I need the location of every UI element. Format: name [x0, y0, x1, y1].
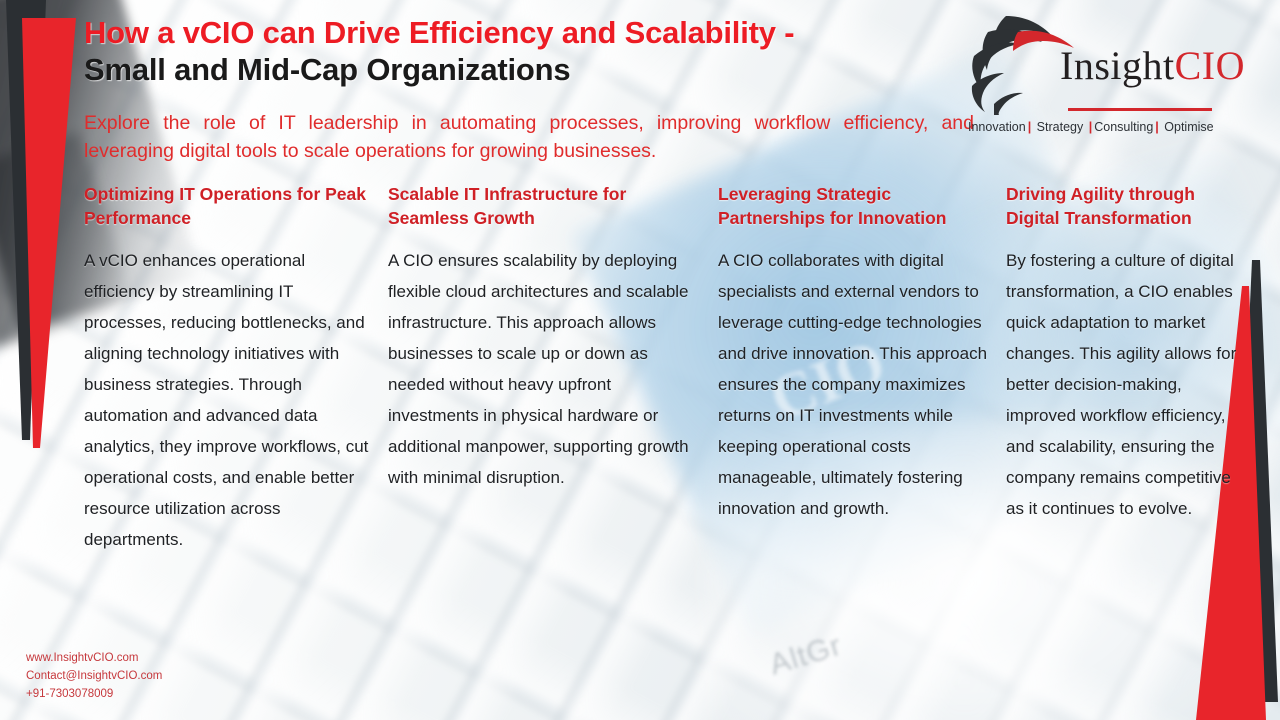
column-body: A CIO collaborates with digital speciali… — [718, 246, 990, 524]
slide-canvas: CIO AltGr How a vCIO can Drive Efficienc… — [0, 0, 1280, 720]
logo-tagline-separator: | — [1153, 120, 1161, 134]
logo-tagline-item-consulting: Consulting — [1094, 120, 1153, 134]
logo-wordmark: InsightCIO — [1060, 42, 1245, 89]
page-subtitle: Explore the role of IT leadership in aut… — [84, 110, 974, 165]
content-column: Leveraging Strategic Partnerships for In… — [718, 182, 990, 525]
logo-tagline: Innovation| Strategy |Consulting| Optimi… — [968, 120, 1258, 134]
column-body: A CIO ensures scalability by deploying f… — [388, 246, 700, 494]
logo-tagline-separator: | — [1026, 120, 1034, 134]
logo-wordmark-insight: Insight — [1060, 43, 1175, 88]
content-column: Optimizing IT Operations for Peak Perfor… — [84, 182, 369, 556]
column-heading: Driving Agility through Digital Transfor… — [1006, 182, 1246, 230]
column-body: By fostering a culture of digital transf… — [1006, 246, 1246, 524]
footer-website[interactable]: www.InsightvCIO.com — [26, 650, 346, 668]
column-heading: Leveraging Strategic Partnerships for In… — [718, 182, 990, 230]
page-title-line-1: How a vCIO can Drive Efficiency and Scal… — [84, 16, 964, 51]
page-title: How a vCIO can Drive Efficiency and Scal… — [84, 16, 964, 88]
footer-contact: www.InsightvCIO.com Contact@InsightvCIO.… — [26, 650, 346, 703]
footer-phone[interactable]: +91-7303078009 — [26, 686, 346, 704]
column-heading: Scalable IT Infrastructure for Seamless … — [388, 182, 700, 230]
column-body: A vCIO enhances operational efficiency b… — [84, 246, 369, 555]
logo-wordmark-cio: CIO — [1175, 43, 1245, 88]
footer-email[interactable]: Contact@InsightvCIO.com — [26, 668, 346, 686]
content-column: Scalable IT Infrastructure for Seamless … — [388, 182, 700, 494]
content-columns: Optimizing IT Operations for Peak Perfor… — [0, 182, 1280, 672]
column-heading: Optimizing IT Operations for Peak Perfor… — [84, 182, 369, 230]
logo-underline — [1068, 108, 1212, 111]
logo-tagline-item-innovation: Innovation — [968, 120, 1026, 134]
page-title-line-2: Small and Mid-Cap Organizations — [84, 51, 964, 88]
logo-tagline-item-optimise: Optimise — [1164, 120, 1213, 134]
logo-tagline-item-strategy: Strategy — [1037, 120, 1084, 134]
content-column: Driving Agility through Digital Transfor… — [1006, 182, 1246, 525]
